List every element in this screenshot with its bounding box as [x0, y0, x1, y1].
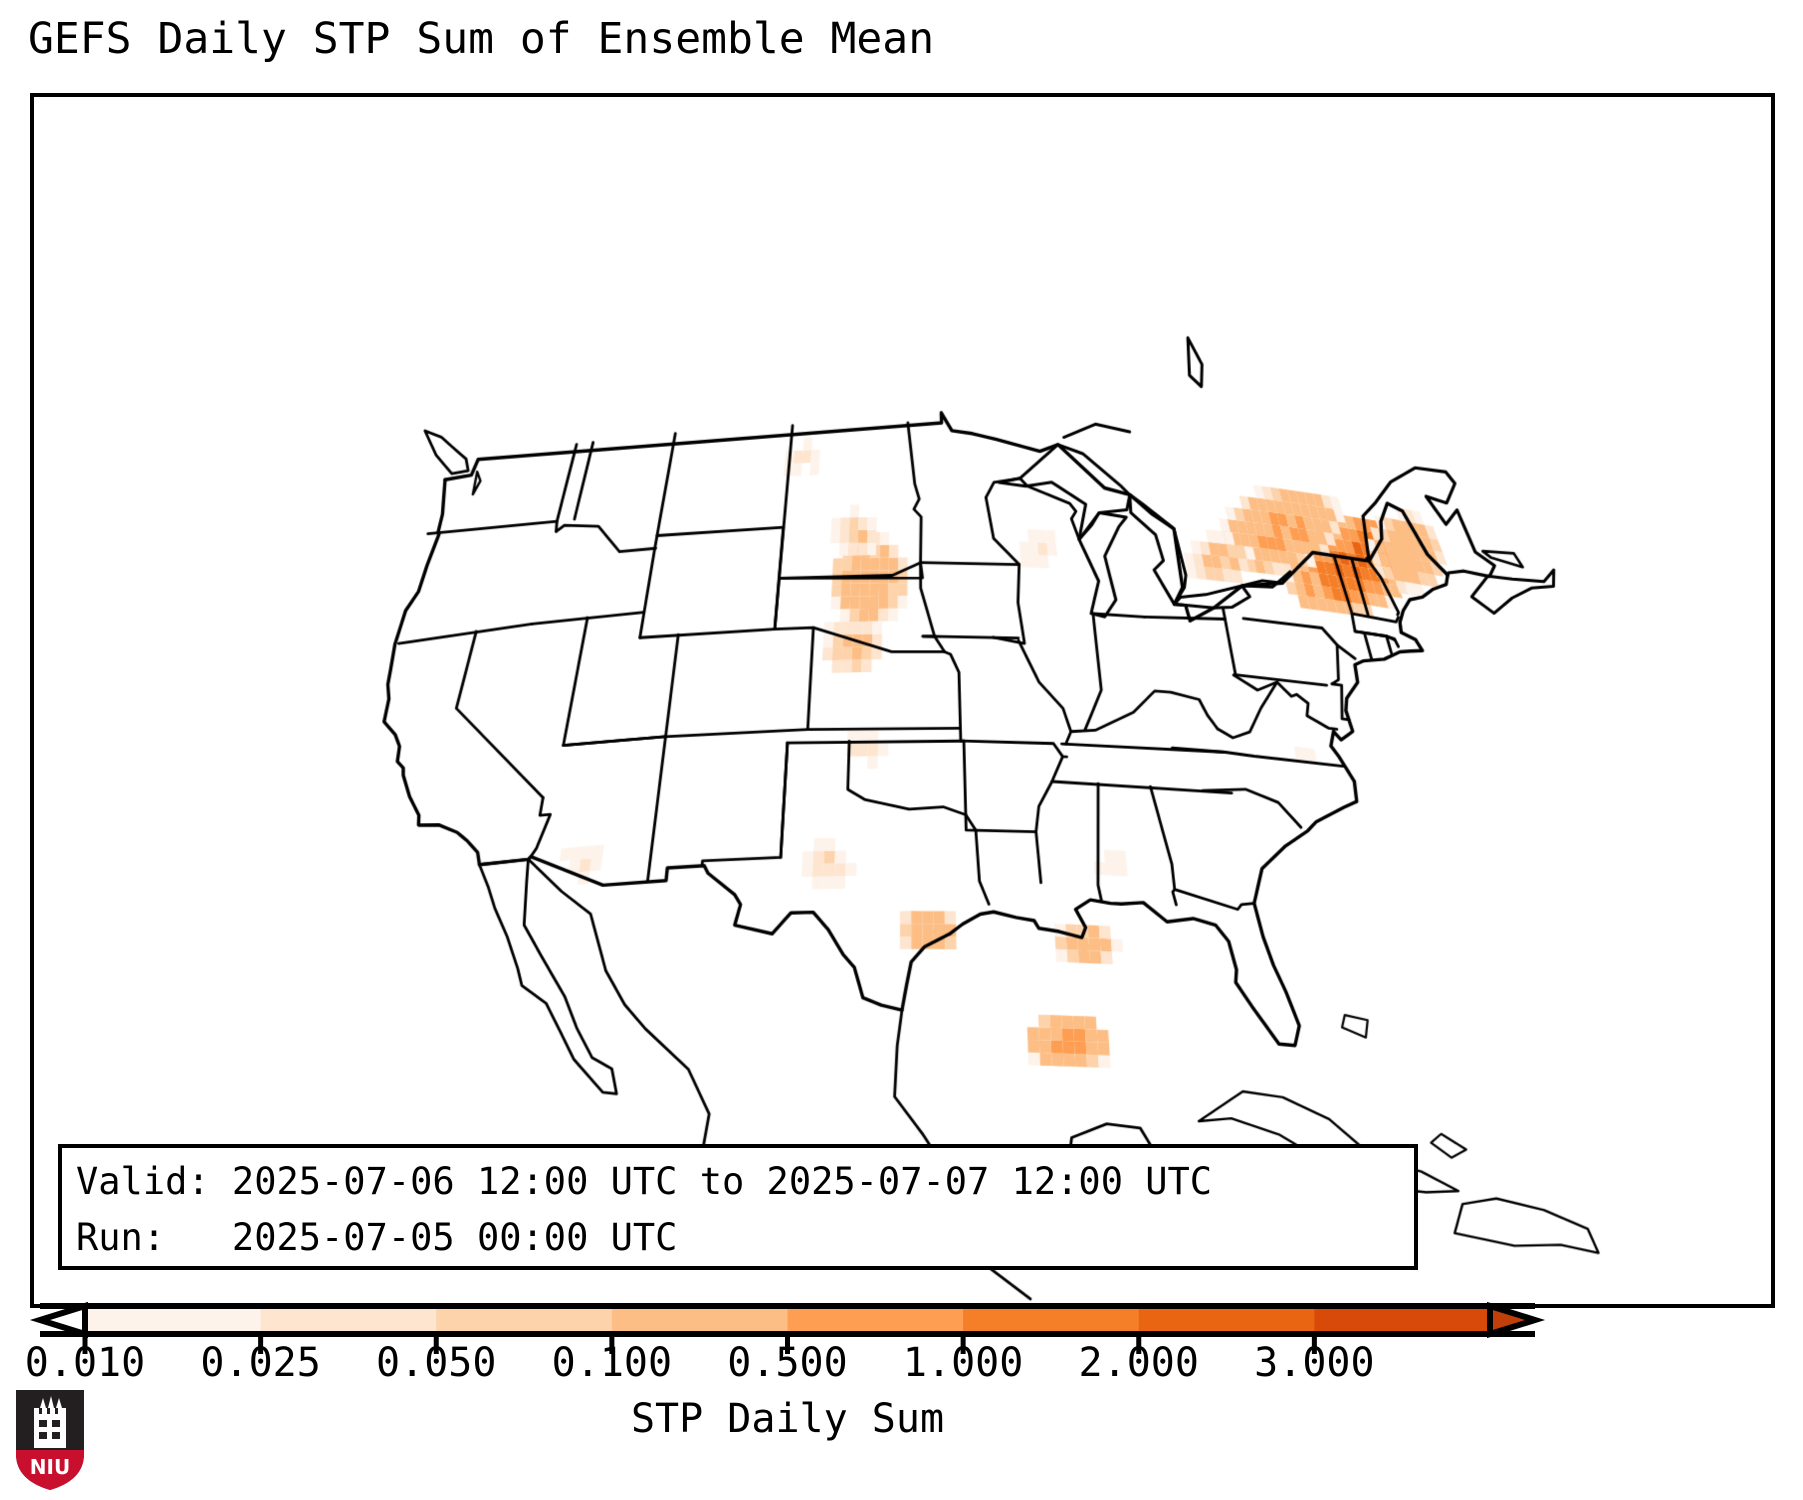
- niu-logo-text: NIU: [30, 1455, 70, 1479]
- colorbar-tick-label: 0.500: [727, 1340, 847, 1386]
- colorbar-tick-label: 0.050: [376, 1340, 496, 1386]
- colorbar-tick-label: 0.010: [25, 1340, 145, 1386]
- forecast-info-box: Valid: 2025-07-06 12:00 UTC to 2025-07-0…: [58, 1144, 1418, 1270]
- colorbar-tick-label: 0.025: [200, 1340, 320, 1386]
- niu-logo: NIU: [14, 1388, 86, 1492]
- valid-time-text: Valid: 2025-07-06 12:00 UTC to 2025-07-0…: [76, 1154, 1400, 1210]
- run-time-text: Run: 2025-07-05 00:00 UTC: [76, 1210, 1400, 1266]
- colorbar-tick-label: 3.000: [1254, 1340, 1374, 1386]
- colorbar-tick-label: 2.000: [1079, 1340, 1199, 1386]
- colorbar-tick-label: 0.100: [552, 1340, 672, 1386]
- colorbar-axis-label: STP Daily Sum: [631, 1396, 944, 1442]
- page-title: GEFS Daily STP Sum of Ensemble Mean: [28, 14, 934, 64]
- colorbar-graphic: [0, 1286, 1803, 1500]
- map-panel[interactable]: [30, 93, 1775, 1308]
- map-canvas[interactable]: [34, 97, 1771, 1304]
- colorbar-tick-label: 1.000: [903, 1340, 1023, 1386]
- colorbar[interactable]: 0.0100.0250.0500.1000.5001.0002.0003.000…: [0, 1286, 1803, 1500]
